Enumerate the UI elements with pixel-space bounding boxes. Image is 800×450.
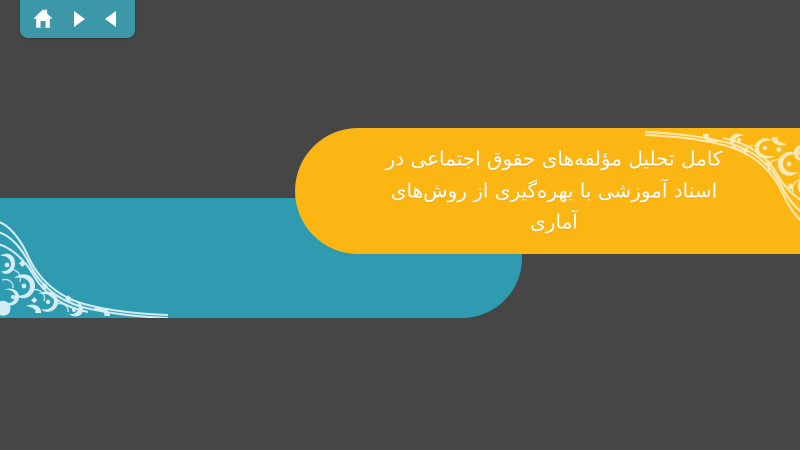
previous-slide-button[interactable]: [97, 6, 127, 32]
next-slide-button[interactable]: [63, 6, 93, 32]
slide-title-line-2: اسناد آموزشی با بهره‌گیری از روش‌های: [319, 175, 789, 207]
orange-title-band: کامل تحلیل مؤلفه‌های حقوق اجتماعی در اسن…: [295, 128, 800, 254]
slide-title: کامل تحلیل مؤلفه‌های حقوق اجتماعی در اسن…: [319, 144, 789, 239]
home-icon: [32, 8, 54, 30]
triangle-left-icon: [102, 9, 122, 29]
slide-navigation-bar: [20, 0, 135, 38]
arabesque-corner-ornament-teal: [0, 198, 168, 318]
triangle-right-icon: [68, 9, 88, 29]
home-button[interactable]: [28, 6, 58, 32]
slide-title-line-3: آماری: [319, 207, 789, 239]
slide-canvas: کامل تحلیل مؤلفه‌های حقوق اجتماعی در اسن…: [0, 0, 800, 450]
slide-title-line-1: کامل تحلیل مؤلفه‌های حقوق اجتماعی در: [319, 144, 789, 176]
